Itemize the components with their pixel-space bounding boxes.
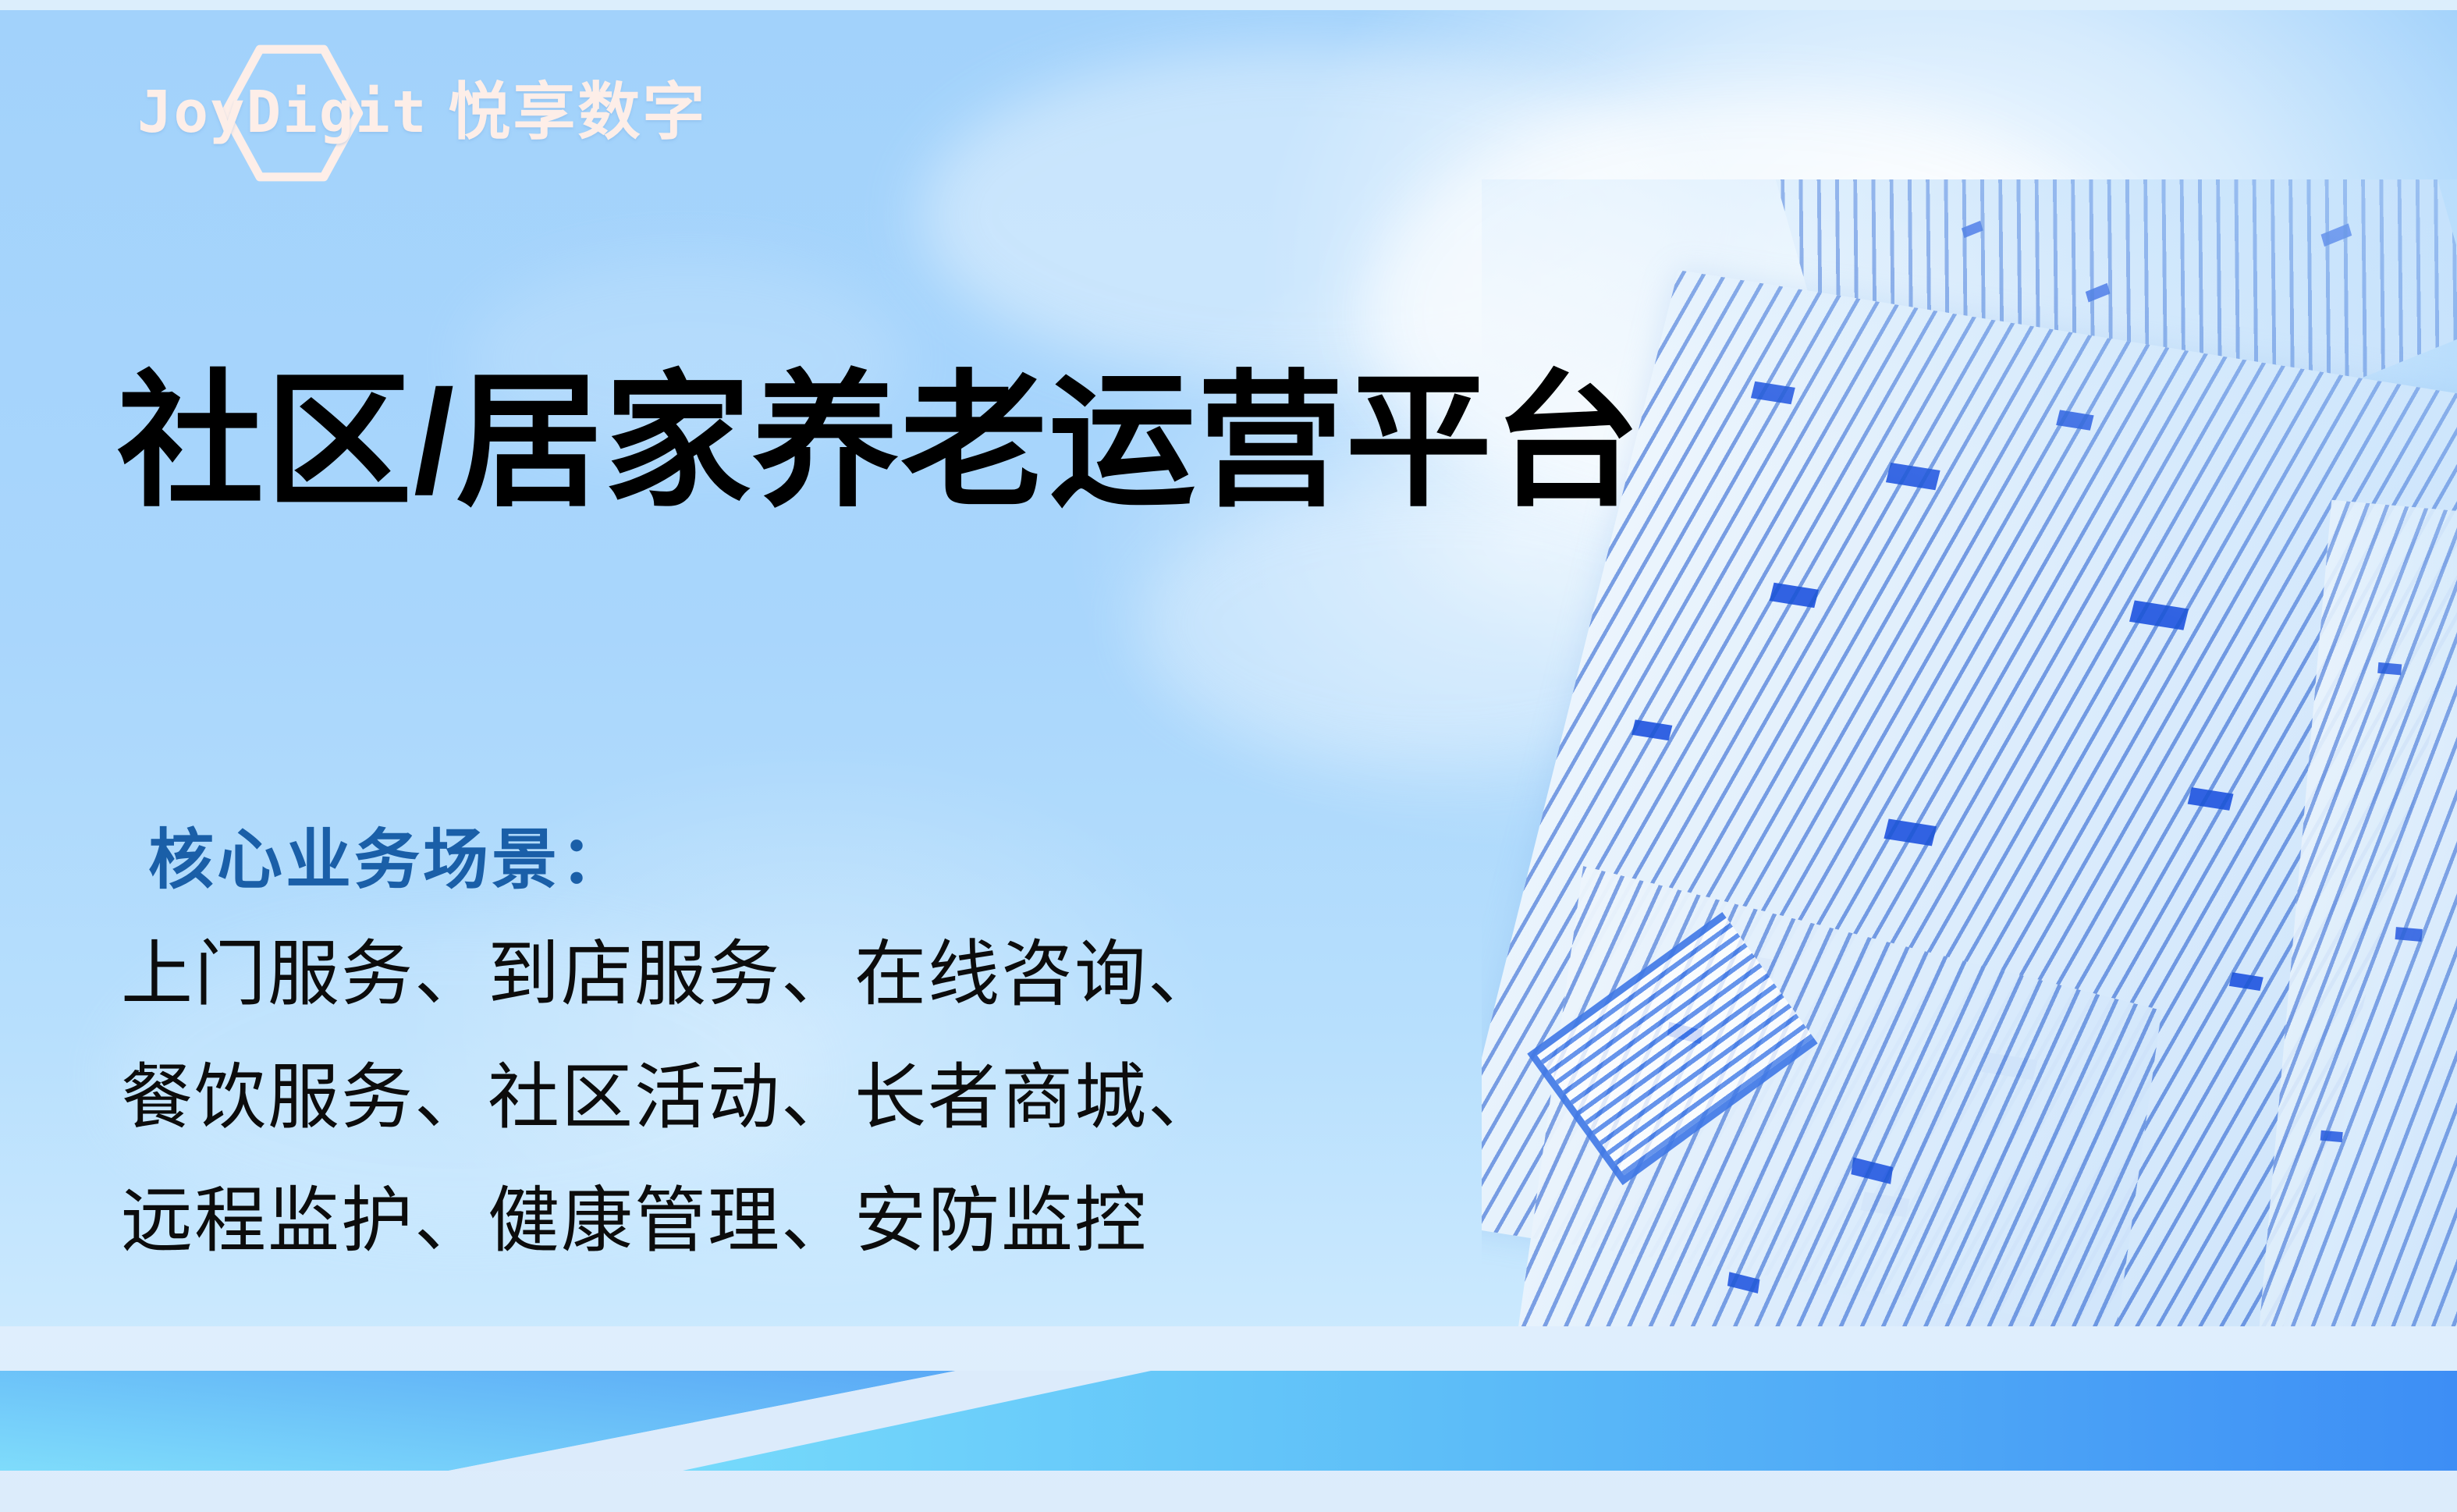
sky-background [0, 0, 2457, 1512]
scenario-list: 上门服务、到店服务、在线咨询、 餐饮服务、社区活动、长者商城、 远程监护、健康管… [121, 913, 1221, 1283]
top-light-strip [0, 0, 2457, 10]
scenario-line: 远程监护、健康管理、安防监控 [121, 1159, 1221, 1283]
logo-wordmark-chinese: 悦享数字 [448, 81, 707, 144]
section-label: 核心业务场景： [148, 827, 629, 893]
brand-logo: JoyDigit 悦享数字 [137, 66, 707, 159]
bottom-decorative-band [0, 1326, 2457, 1512]
logo-wordmark-latin: JoyDigit [137, 83, 428, 141]
scenario-line: 餐饮服务、社区活动、长者商城、 [121, 1036, 1221, 1159]
scenario-line: 上门服务、到店服务、在线咨询、 [121, 913, 1221, 1036]
band-shapes [0, 1326, 2457, 1512]
page-title: 社区/居家养老运营平台 [117, 356, 1642, 529]
slide-root: JoyDigit 悦享数字 社区/居家养老运营平台 核心业务场景： 上门服务、到… [0, 0, 2457, 1512]
